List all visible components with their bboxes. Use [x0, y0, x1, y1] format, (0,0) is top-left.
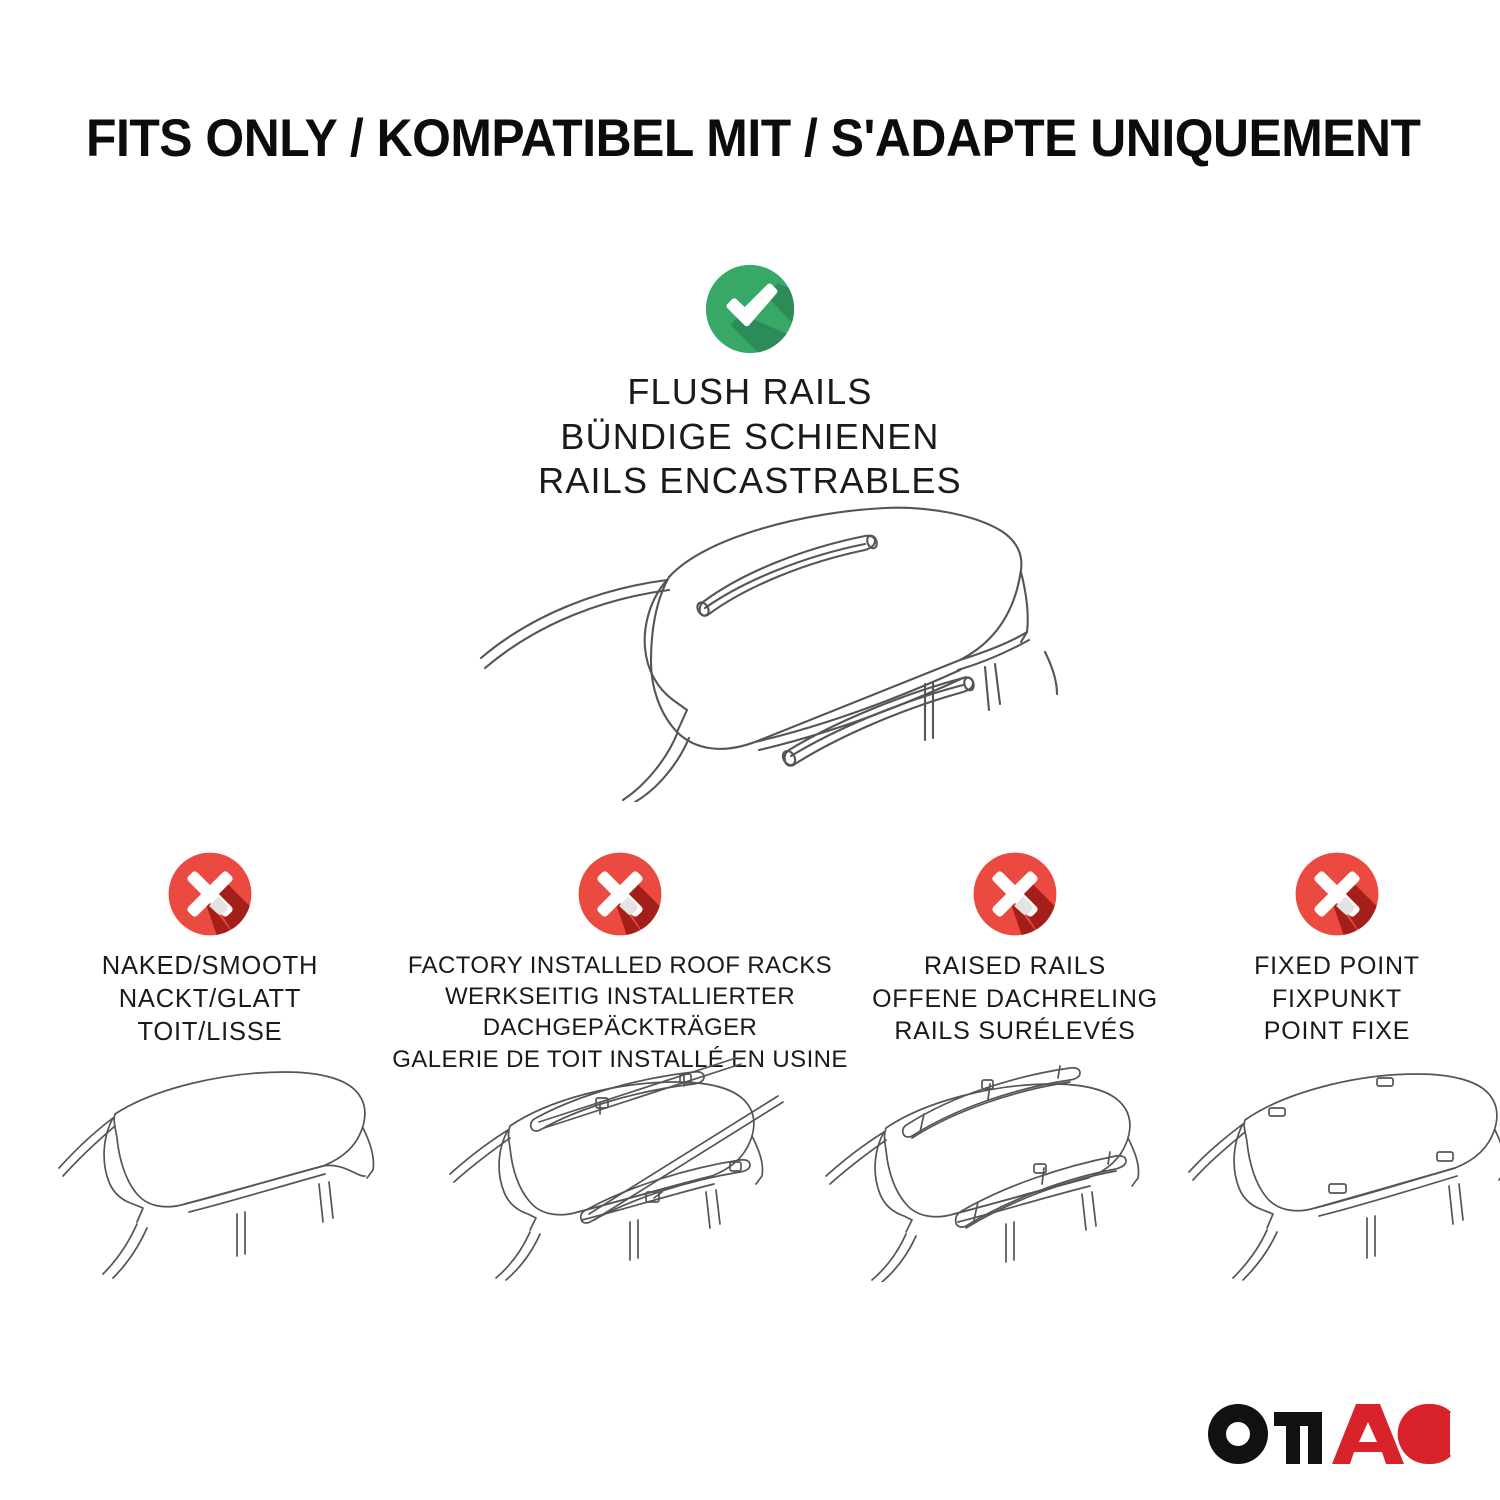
incompatible-label-de: NACKT/GLATT: [102, 983, 318, 1016]
raised-rails-roof-illustration: [820, 1052, 1185, 1282]
fixed-point-roof-illustration: [1187, 1052, 1500, 1282]
incompatible-item-factory-roof-racks: FACTORY INSTALLED ROOF RACKS WERKSEITIG …: [400, 848, 840, 1075]
compatible-labels: FLUSH RAILS BÜNDIGE SCHIENEN RAILS ENCAS…: [538, 370, 962, 504]
compatible-label-en: FLUSH RAILS: [538, 370, 962, 415]
factory-roof-racks-illustration: [440, 1052, 810, 1282]
incompatible-section: NAKED/SMOOTH NACKT/GLATT TOIT/LISSE: [0, 848, 1500, 1075]
logo-letter-m: [1274, 1412, 1322, 1464]
green-check-circle-icon: [701, 260, 799, 358]
omac-logo: [1204, 1402, 1452, 1464]
logo-letter-o: [1208, 1404, 1268, 1464]
incompatible-label-fr: TOIT/LISSE: [102, 1016, 318, 1049]
incompatible-label-de: FIXPUNKT: [1254, 983, 1420, 1016]
incompatible-item-naked-smooth: NAKED/SMOOTH NACKT/GLATT TOIT/LISSE: [25, 848, 395, 1049]
red-x-circle-icon: [1291, 848, 1383, 940]
red-x-circle-icon: [164, 848, 256, 940]
incompatible-illustrations: [0, 1052, 1500, 1282]
incompatible-label-en: RAISED RAILS: [872, 950, 1158, 983]
flush-rails-roof-illustration: [455, 492, 1075, 802]
naked-smooth-roof-illustration: [55, 1052, 405, 1282]
logo-letter-a: [1332, 1404, 1404, 1464]
compatible-section: FLUSH RAILS BÜNDIGE SCHIENEN RAILS ENCAS…: [0, 260, 1500, 504]
incompatible-label-en: NAKED/SMOOTH: [102, 950, 318, 983]
page-title: FITS ONLY / KOMPATIBEL MIT / S'ADAPTE UN…: [86, 108, 1421, 169]
incompatible-label-fr: POINT FIXE: [1254, 1015, 1420, 1048]
incompatible-label-en: FIXED POINT: [1254, 950, 1420, 983]
incompatible-label-de1: WERKSEITIG INSTALLIERTER: [392, 981, 848, 1012]
incompatible-label-fr: RAILS SURÉLEVÉS: [872, 1015, 1158, 1048]
incompatible-labels: RAISED RAILS OFFENE DACHRELING RAILS SUR…: [872, 950, 1158, 1048]
red-x-circle-icon: [574, 848, 666, 940]
incompatible-item-raised-rails: RAISED RAILS OFFENE DACHRELING RAILS SUR…: [850, 848, 1180, 1048]
red-x-circle-icon: [969, 848, 1061, 940]
incompatible-item-fixed-point: FIXED POINT FIXPUNKT POINT FIXE: [1192, 848, 1482, 1048]
incompatible-labels: FIXED POINT FIXPUNKT POINT FIXE: [1254, 950, 1420, 1048]
fitment-infographic: FITS ONLY / KOMPATIBEL MIT / S'ADAPTE UN…: [0, 0, 1500, 1500]
incompatible-label-en: FACTORY INSTALLED ROOF RACKS: [392, 950, 848, 981]
incompatible-label-de: OFFENE DACHRELING: [872, 983, 1158, 1016]
compatible-label-de: BÜNDIGE SCHIENEN: [538, 415, 962, 460]
incompatible-labels: NAKED/SMOOTH NACKT/GLATT TOIT/LISSE: [102, 950, 318, 1049]
incompatible-label-de2: DACHGEPÄCKTRÄGER: [392, 1012, 848, 1043]
